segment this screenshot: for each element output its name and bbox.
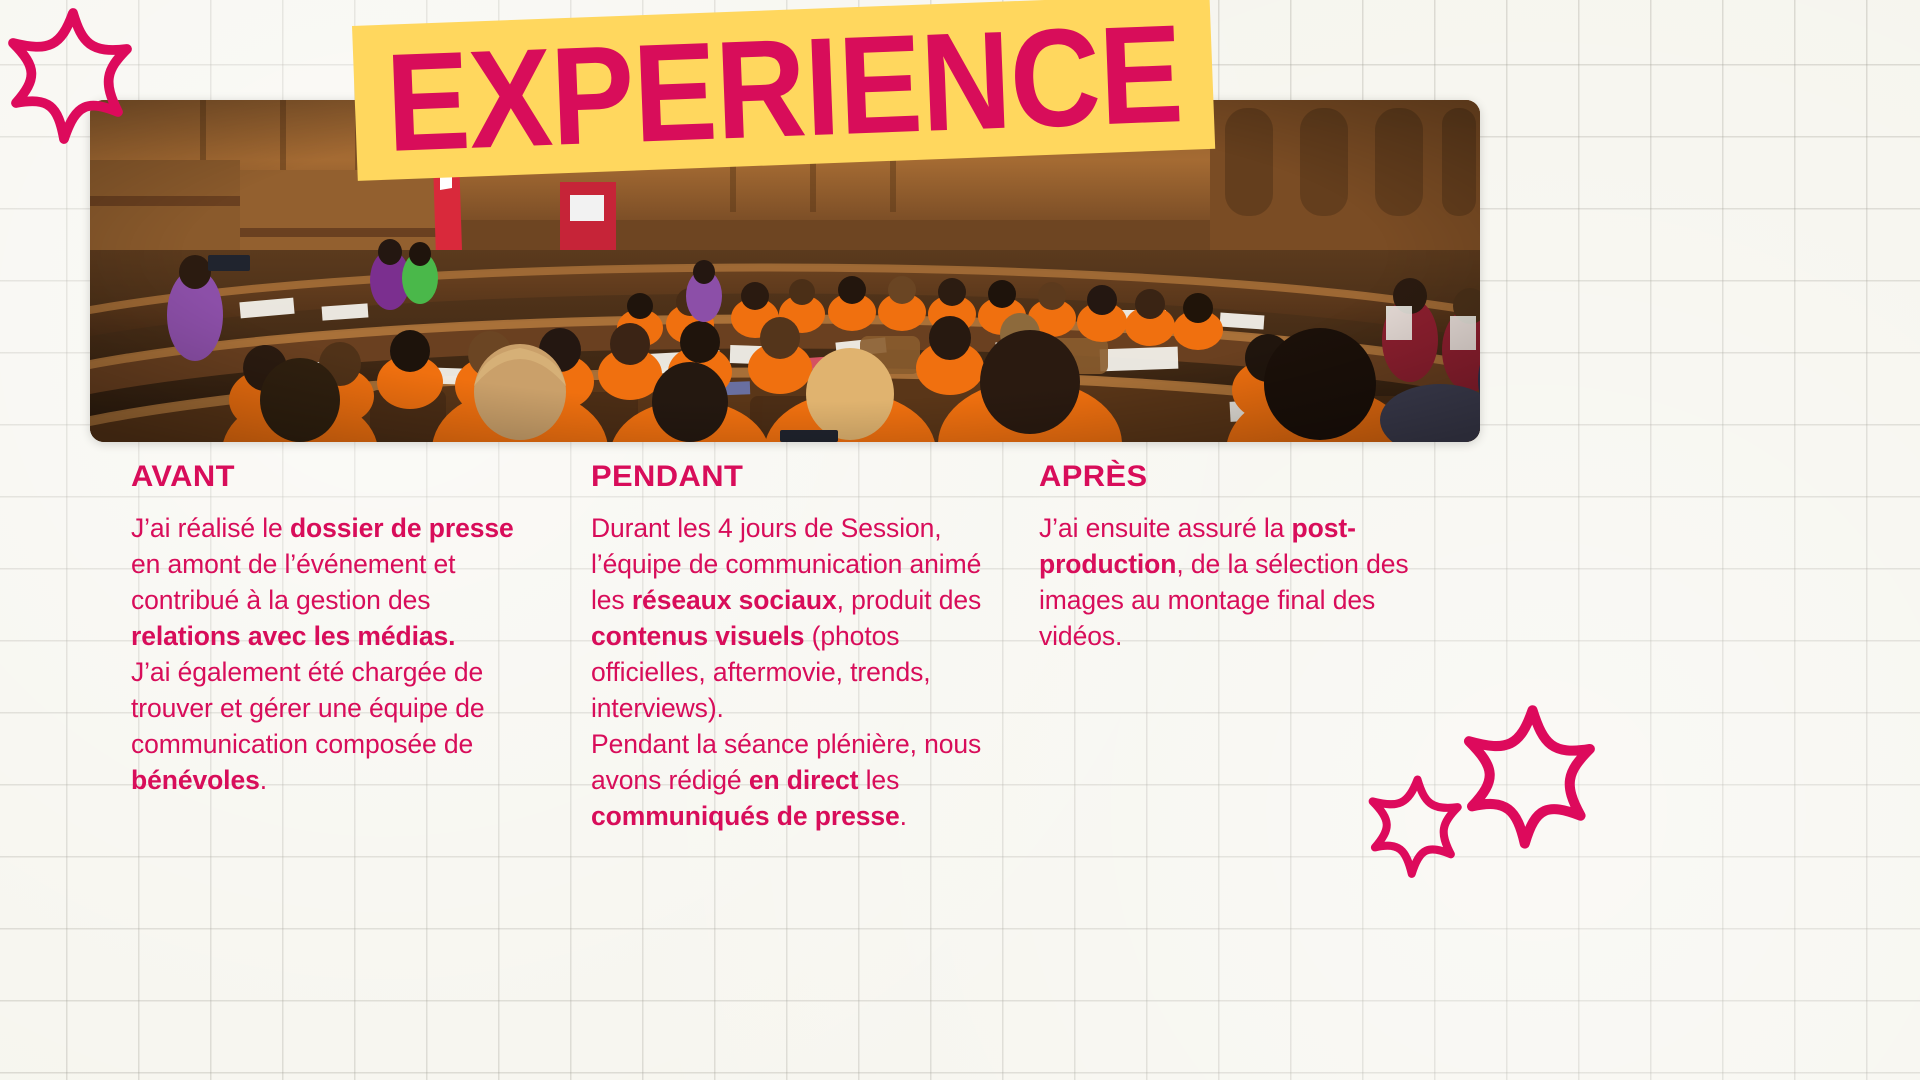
body-text: . xyxy=(900,801,907,831)
paragraph: Pendant la séance plénière, nous avons r… xyxy=(591,726,1001,834)
body-text: J’ai également été chargée de trouver et… xyxy=(131,657,485,759)
paragraph: Durant les 4 jours de Session, l’équipe … xyxy=(591,510,1001,726)
column-title-apres: APRÈS xyxy=(1039,462,1461,492)
emphasis-text: réseaux sociaux xyxy=(632,585,837,615)
star-outline-icon-top-left xyxy=(0,4,148,154)
emphasis-text: bénévoles xyxy=(131,765,260,795)
emphasis-text: relations avec les médias. xyxy=(131,621,455,651)
slide-root: EXPERIENCE AVANT J’ai réalisé le dossier… xyxy=(0,0,1920,1080)
banner-title-text: EXPERIENCE xyxy=(383,4,1183,173)
column-body-avant: J’ai réalisé le dossier de presse en amo… xyxy=(131,510,541,798)
body-text: les xyxy=(858,765,899,795)
column-pendant: PENDANT Durant les 4 jours de Session, l… xyxy=(591,462,1001,834)
emphasis-text: contenus visuels xyxy=(591,621,804,651)
column-title-avant: AVANT xyxy=(131,462,553,492)
emphasis-text: dossier de presse xyxy=(290,513,514,543)
content-columns: AVANT J’ai réalisé le dossier de presse … xyxy=(0,462,1920,834)
paragraph: J’ai également été chargée de trouver et… xyxy=(131,654,541,798)
star-outline-icon-bottom-right-large xyxy=(1455,700,1610,860)
experience-banner: EXPERIENCE xyxy=(352,0,1215,181)
column-avant: AVANT J’ai réalisé le dossier de presse … xyxy=(131,462,541,834)
body-text: , produit des xyxy=(837,585,982,615)
body-text: J’ai ensuite assuré la xyxy=(1039,513,1292,543)
emphasis-text: en direct xyxy=(749,765,859,795)
body-text: . xyxy=(260,765,267,795)
paragraph: J’ai ensuite assuré la post-production, … xyxy=(1039,510,1449,654)
body-text: en amont de l’événement et contribué à l… xyxy=(131,549,455,615)
paragraph: J’ai réalisé le dossier de presse en amo… xyxy=(131,510,541,654)
column-body-apres: J’ai ensuite assuré la post-production, … xyxy=(1039,510,1449,654)
column-body-pendant: Durant les 4 jours de Session, l’équipe … xyxy=(591,510,1001,834)
star-outline-icon-bottom-right-small xyxy=(1360,770,1475,888)
column-title-pendant: PENDANT xyxy=(591,462,1013,492)
emphasis-text: communiqués de presse xyxy=(591,801,900,831)
body-text: J’ai réalisé le xyxy=(131,513,290,543)
